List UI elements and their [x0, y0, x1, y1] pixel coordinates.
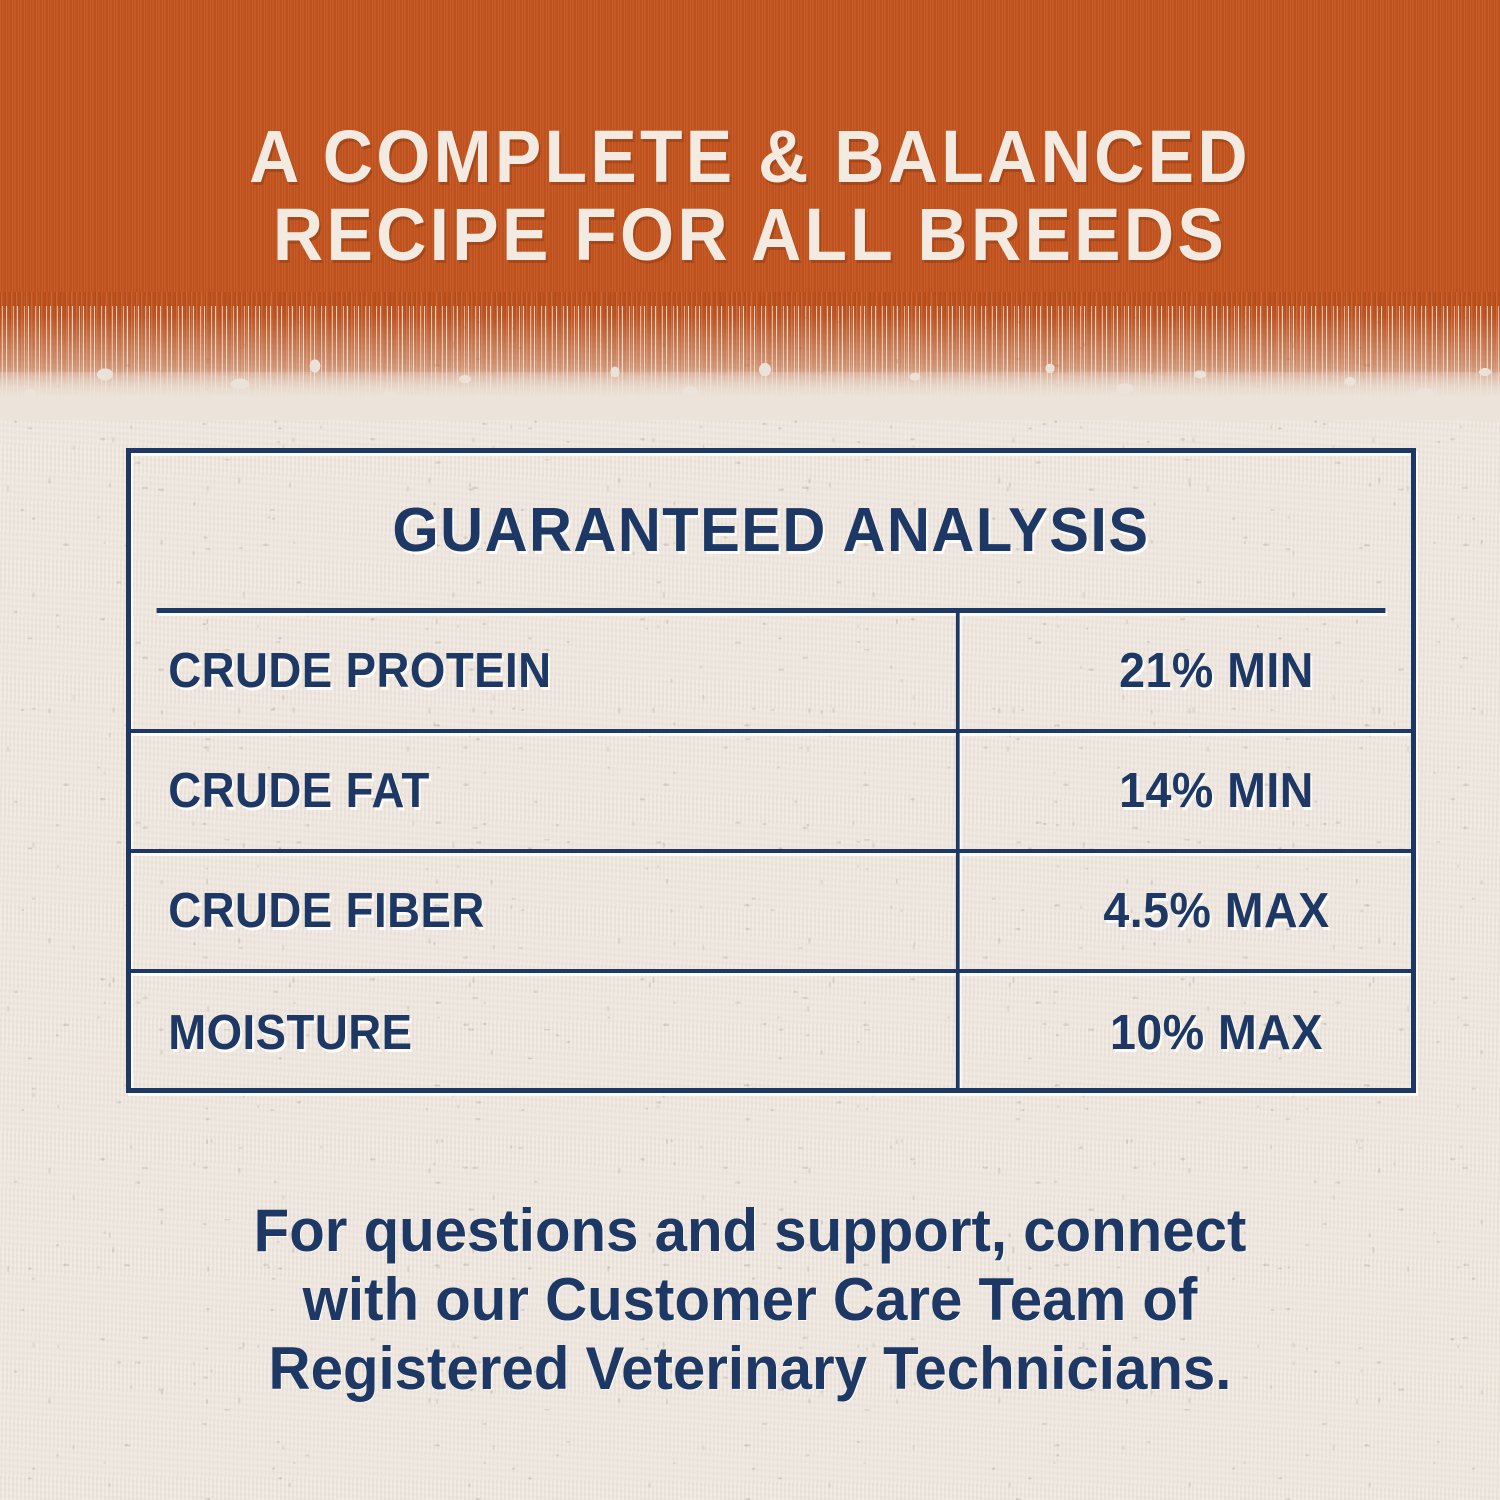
guaranteed-analysis-table: GUARANTEED ANALYSIS CRUDE PROTEIN 21% MI…	[126, 448, 1416, 1093]
product-info-panel: A COMPLETE & BALANCED RECIPE FOR ALL BRE…	[0, 0, 1500, 1500]
nutrient-label: CRUDE PROTEIN	[131, 613, 960, 729]
customer-care-note: For questions and support, connect with …	[120, 1196, 1381, 1403]
nutrient-amount: 10% MAX	[1032, 973, 1402, 1093]
headline-line-2: RECIPE FOR ALL BREEDS	[45, 196, 1455, 274]
table-body: CRUDE PROTEIN 21% MIN CRUDE FAT 14% MIN …	[131, 613, 1411, 1093]
nutrient-amount: 4.5% MAX	[1032, 853, 1402, 969]
table-title: GUARANTEED ANALYSIS	[157, 453, 1386, 613]
banner-cream-fade	[0, 372, 1500, 420]
footer-line-1: For questions and support, connect	[120, 1196, 1381, 1265]
footer-line-3: Registered Veterinary Technicians.	[120, 1334, 1381, 1403]
banner-headline: A COMPLETE & BALANCED RECIPE FOR ALL BRE…	[45, 118, 1455, 274]
table-row: MOISTURE 10% MAX	[131, 973, 1411, 1093]
nutrient-label: CRUDE FIBER	[131, 853, 960, 969]
nutrient-amount: 14% MIN	[1032, 733, 1402, 849]
table-row: CRUDE PROTEIN 21% MIN	[131, 613, 1411, 733]
nutrient-label: CRUDE FAT	[131, 733, 960, 849]
footer-line-2: with our Customer Care Team of	[120, 1265, 1381, 1334]
nutrient-amount: 21% MIN	[1032, 613, 1402, 729]
headline-line-1: A COMPLETE & BALANCED	[45, 118, 1455, 196]
table-row: CRUDE FIBER 4.5% MAX	[131, 853, 1411, 973]
table-row: CRUDE FAT 14% MIN	[131, 733, 1411, 853]
nutrient-label: MOISTURE	[131, 973, 960, 1093]
